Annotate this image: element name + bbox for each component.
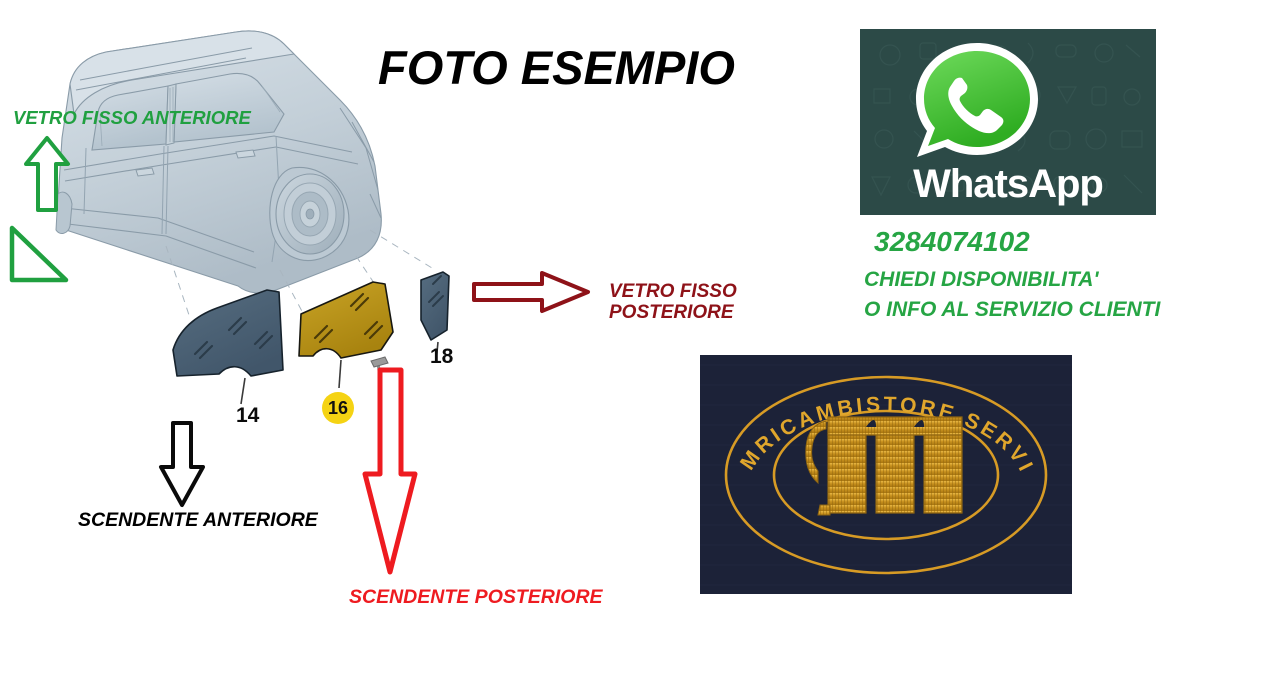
contact-line-2: O INFO AL SERVIZIO CLIENTI xyxy=(864,298,1160,322)
whatsapp-phone-number[interactable]: 3284074102 xyxy=(874,226,1030,258)
label-scendente-posteriore: SCENDENTE POSTERIORE xyxy=(349,587,603,609)
label-vetro-fisso-posteriore-line2: POSTERIORE xyxy=(609,302,737,323)
label-vetro-fisso-posteriore: VETRO FISSO POSTERIORE xyxy=(609,281,737,324)
company-logo-stamp: MRICAMBISTORE SERVICE DI RUSSO MARCO xyxy=(700,355,1072,594)
green-triangle-icon xyxy=(6,223,70,292)
part-number-18: 18 xyxy=(430,345,453,369)
label-vetro-fisso-posteriore-line1: VETRO FISSO xyxy=(609,281,737,302)
black-down-arrow-icon xyxy=(157,419,207,514)
stamp-monogram xyxy=(806,417,962,515)
whatsapp-icon xyxy=(907,37,1047,172)
green-up-arrow-icon xyxy=(23,134,71,219)
label-scendente-anteriore: SCENDENTE ANTERIORE xyxy=(78,510,318,532)
screenshot-root: 14 16 17 18 FOTO ESEMPIO VETRO FISSO ANT… xyxy=(0,0,1264,678)
dark-red-right-arrow-icon xyxy=(470,268,592,321)
part-number-16-badge: 16 xyxy=(322,392,354,424)
label-vetro-fisso-anteriore: VETRO FISSO ANTERIORE xyxy=(13,108,251,129)
contact-line-1: CHIEDI DISPONIBILITA' xyxy=(864,268,1098,292)
whatsapp-banner[interactable]: WhatsApp xyxy=(860,29,1156,215)
red-down-arrow-icon xyxy=(361,366,419,583)
page-title: FOTO ESEMPIO xyxy=(378,40,735,95)
whatsapp-wordmark: WhatsApp xyxy=(860,162,1156,207)
part-number-14: 14 xyxy=(236,404,259,428)
